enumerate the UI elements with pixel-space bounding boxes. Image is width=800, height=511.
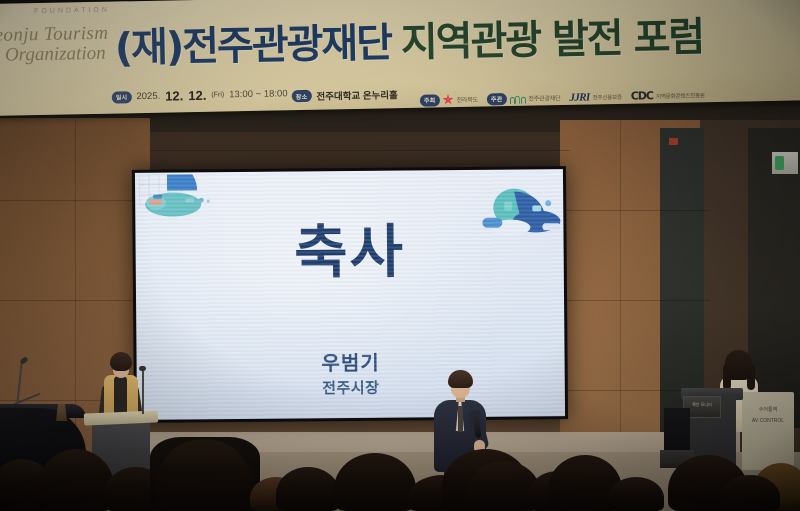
banner-datetime: 일시 2025. 12. 12. (Fri) 13:00 ~ 18:00 xyxy=(112,86,288,104)
sponsor-name: 전라북도 xyxy=(456,95,477,104)
banner-org-logo: eonju Tourism Organization xyxy=(0,24,109,66)
sponsor-item: 주관 전주관광재단 xyxy=(487,92,561,105)
banner-org-logo-line2: Organization xyxy=(0,44,109,66)
av-control-panel xyxy=(742,392,794,470)
sponsor-name: 전주신용보증 xyxy=(593,92,622,101)
banner-title-secondary: 지역관광 발전 포럼 xyxy=(401,14,704,66)
banner-date-weekday: (Fri) xyxy=(211,91,224,98)
sponsor-item: JJRI 전주신용보증 xyxy=(569,90,622,103)
sponsor-pill: 주최 xyxy=(420,94,440,106)
wall-seam xyxy=(620,120,621,460)
person-hair xyxy=(110,352,132,371)
slide-speaker-name: 우범기 xyxy=(136,345,564,378)
banner-place: 장소 전주대학교 온누리홀 xyxy=(292,87,398,103)
sponsor-name: 전주관광재단 xyxy=(528,93,560,103)
exit-light-icon xyxy=(669,138,678,145)
banner-title-primary: (재)전주관광재단 xyxy=(114,20,391,71)
av-panel-line1: 수어통역 xyxy=(746,405,790,416)
cdc-logo-icon: CDC xyxy=(631,89,654,102)
jjri-logo-icon: JJRI xyxy=(569,91,589,103)
banner-date-month: 12. xyxy=(165,88,183,103)
banner-place-pill: 장소 xyxy=(292,90,312,102)
av-control-panel-text: 수어통역 AV CONTROL xyxy=(746,405,790,427)
slide-title: 축사 xyxy=(135,221,563,283)
event-banner: FOUNDATION eonju Tourism Organization (재… xyxy=(0,0,800,116)
sponsor-item: CDC 지역문화콘텐츠진흥원 xyxy=(631,88,705,102)
person-hair xyxy=(725,350,752,380)
sponsor-item: 주최 전라북도 xyxy=(420,93,478,106)
banner-place-text: 전주대학교 온누리홀 xyxy=(316,87,398,103)
banner-date-day: 12. xyxy=(188,88,206,103)
banner-time-range: 13:00 ~ 18:00 xyxy=(229,88,288,100)
person-tie xyxy=(458,406,463,432)
av-panel-line2: AV CONTROL xyxy=(746,416,790,427)
conference-photo-scene: FOUNDATION eonju Tourism Organization (재… xyxy=(0,0,800,511)
house-logo-icon xyxy=(509,93,525,103)
banner-date-pill: 일시 xyxy=(112,91,132,103)
sponsor-pill: 주관 xyxy=(487,93,507,105)
projection-screen: 축사 우범기 전주시장 xyxy=(135,169,565,420)
confidence-monitor-text: 확인 모니터 xyxy=(686,402,718,408)
wall-seam xyxy=(560,300,710,301)
banner-date-year: 2025. xyxy=(136,91,160,102)
wall-seam xyxy=(150,150,570,151)
slide-speaker-role: 전주시장 xyxy=(137,375,565,400)
banner-org-sublabel: FOUNDATION xyxy=(34,7,110,15)
lectern-microphone-stand xyxy=(142,370,144,414)
wall-seam xyxy=(560,210,710,211)
person-hair xyxy=(448,370,473,388)
audience-head xyxy=(720,475,780,511)
audience-head xyxy=(608,477,664,511)
banner-title: (재)전주관광재단지역관광 발전 포럼 xyxy=(114,17,703,68)
emergency-sign-icon xyxy=(772,152,798,174)
sponsor-name: 지역문화콘텐츠진흥원 xyxy=(656,91,705,100)
flower-logo-icon xyxy=(442,94,453,105)
lectern-microphone-icon xyxy=(139,366,146,371)
projection-screen-frame: 축사 우범기 전주시장 xyxy=(132,166,568,423)
